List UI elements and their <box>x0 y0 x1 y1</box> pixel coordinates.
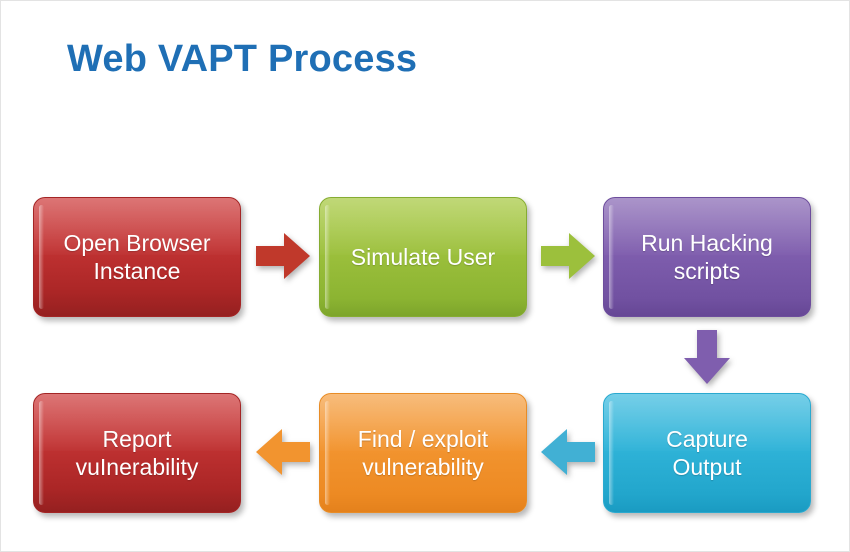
process-box-label: Capture Output <box>666 425 748 481</box>
process-box-label: Open Browser Instance <box>63 229 210 285</box>
process-box-line2: scripts <box>674 258 740 284</box>
process-box-line2: Instance <box>94 258 181 284</box>
arrow-right-icon-red <box>254 227 312 285</box>
page-title: Web VAPT Process <box>67 39 417 81</box>
arrow-left-icon <box>254 423 312 481</box>
process-box-run-hacking-scripts[interactable]: Run Hacking scripts <box>603 197 811 317</box>
arrow-down-icon <box>678 328 736 386</box>
process-box-line2: vulnerability <box>362 454 483 480</box>
process-box-capture-output[interactable]: Capture Output <box>603 393 811 513</box>
arrow-down-icon-purple <box>678 328 736 386</box>
process-box-label: Report vuInerability <box>76 425 199 481</box>
process-box-line1: Find / exploit <box>358 426 488 452</box>
process-box-line1: Open Browser <box>63 230 210 256</box>
process-box-line1: Simulate User <box>351 244 495 270</box>
slide-canvas: Web VAPT Process Open Browser Instance S… <box>0 0 850 552</box>
process-box-label: Find / exploit vulnerability <box>358 425 488 481</box>
arrow-left-icon-cyan <box>539 423 597 481</box>
process-box-line1: Run Hacking <box>641 230 773 256</box>
arrow-right-icon-green <box>539 227 597 285</box>
process-box-label: Run Hacking scripts <box>641 229 773 285</box>
process-box-line1: Capture <box>666 426 748 452</box>
process-box-line1: Report <box>102 426 171 452</box>
process-box-line2: Output <box>672 454 741 480</box>
arrow-right-icon <box>539 227 597 285</box>
process-box-open-browser-instance[interactable]: Open Browser Instance <box>33 197 241 317</box>
process-box-report-vulnerability[interactable]: Report vuInerability <box>33 393 241 513</box>
process-box-find-exploit-vulnerability[interactable]: Find / exploit vulnerability <box>319 393 527 513</box>
process-box-line2: vuInerability <box>76 454 199 480</box>
process-box-simulate-user[interactable]: Simulate User <box>319 197 527 317</box>
arrow-right-icon <box>254 227 312 285</box>
arrow-left-icon-orange <box>254 423 312 481</box>
arrow-left-icon <box>539 423 597 481</box>
process-box-label: Simulate User <box>351 243 495 271</box>
